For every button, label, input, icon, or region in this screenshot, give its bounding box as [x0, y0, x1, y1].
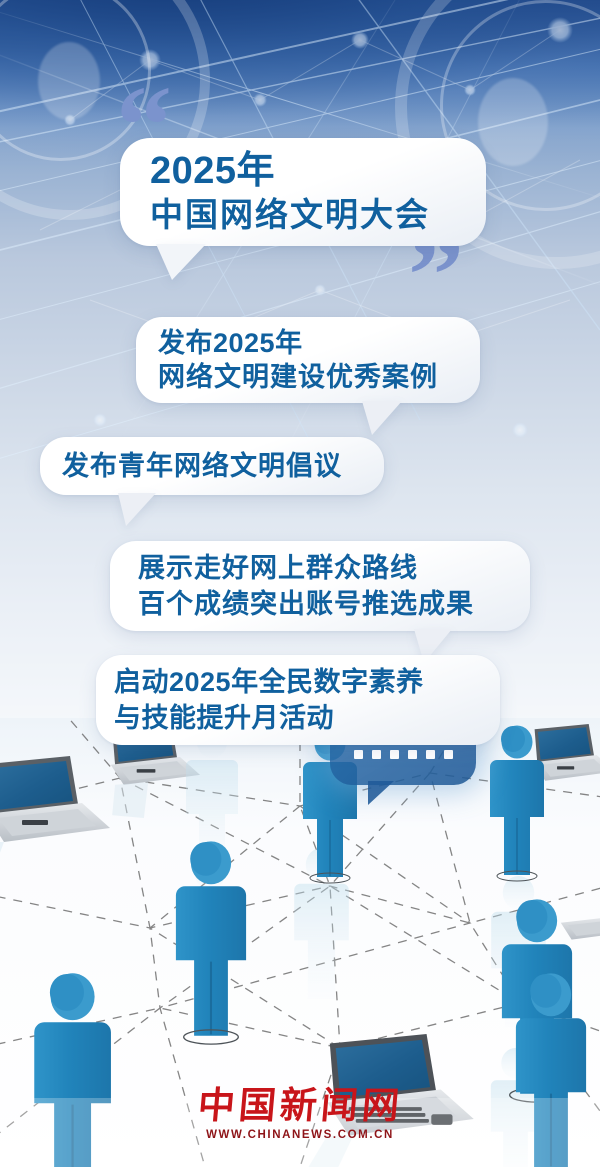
quote-close-icon: ” [408, 236, 460, 317]
bubble-line2: 百个成绩突出账号推选成果 [138, 586, 530, 622]
bubble-digital-literacy: 启动2025年全民数字素养 与技能提升月活动 [96, 655, 500, 745]
typing-dot [390, 750, 399, 759]
bubble-tail [118, 493, 156, 526]
decorative-blob [38, 42, 100, 120]
decorative-blob [478, 78, 548, 166]
page-title-line2: 中国网络文明大会 [150, 194, 486, 236]
logo-chinese-name: 中国新闻网 [196, 1084, 405, 1126]
typing-dot [372, 750, 381, 759]
typing-dot [444, 750, 453, 759]
bubble-tail [156, 244, 206, 280]
bubble-youth-initiative: 发布青年网络文明倡议 [40, 437, 384, 495]
bubble-line1: 发布2025年 [158, 326, 480, 360]
bubble-line1: 发布青年网络文明倡议 [62, 449, 384, 483]
poster-root: “ ” 2025年 中国网络文明大会 发布2025年 网络文明建设优秀案例 发布… [0, 0, 600, 1167]
chat-bubble-tail [368, 781, 394, 805]
page-title-line1: 2025年 [150, 148, 486, 194]
bubble-line2: 与技能提升月活动 [114, 700, 500, 736]
typing-dot [354, 750, 363, 759]
bubble-line2: 网络文明建设优秀案例 [158, 360, 480, 394]
site-logo: 中国新闻网 WWW.CHINANEWS.COM.CN [0, 1084, 600, 1141]
bubble-mass-line: 展示走好网上群众路线 百个成绩突出账号推选成果 [110, 541, 530, 631]
typing-dot [408, 750, 417, 759]
bubble-release-cases: 发布2025年 网络文明建设优秀案例 [136, 317, 480, 403]
bubble-tail [362, 401, 402, 435]
typing-dot [426, 750, 435, 759]
bubble-line1: 展示走好网上群众路线 [138, 550, 530, 586]
bubble-line1: 启动2025年全民数字素养 [114, 664, 500, 700]
title-speech-bubble: 2025年 中国网络文明大会 [120, 138, 486, 246]
logo-url: WWW.CHINANEWS.COM.CN [206, 1129, 394, 1141]
